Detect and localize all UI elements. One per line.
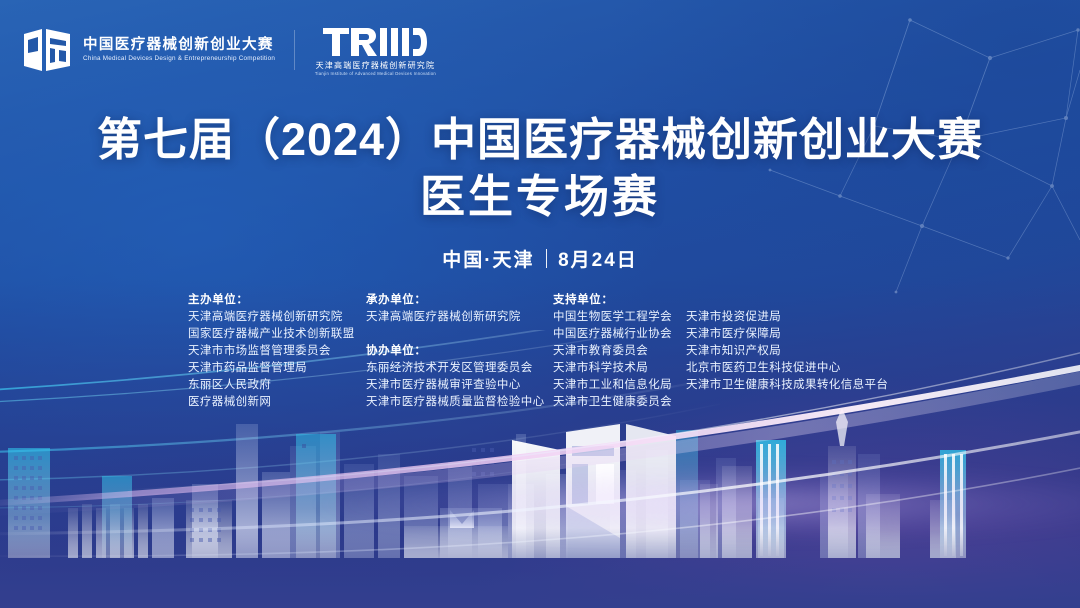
trmd-wordmark-icon [323, 24, 427, 60]
supporter-item: 天津市科学技术局 [553, 360, 686, 377]
header-logos: 中国医疗器械创新创业大赛 China Medical Devices Desig… [22, 24, 436, 76]
supporter-item: 中国医疗器械行业协会 [553, 326, 686, 343]
host-item: 东丽区人民政府 [188, 377, 366, 394]
coorganizer-item: 东丽经济技术开发区管理委员会 [366, 360, 553, 377]
organizer-column-supporters-2: 天津市投资促进局 天津市医疗保障局 天津市知识产权局 北京市医药卫生科技促进中心… [686, 292, 896, 394]
organizer-column-undertaker: 承办单位： 天津高端医疗器械创新研究院 协办单位： 东丽经济技术开发区管理委员会… [366, 292, 553, 411]
coorganizer-label: 协办单位： [366, 343, 553, 360]
logo-secondary-cn: 天津高端医疗器械创新研究院 [316, 62, 436, 70]
host-item: 医疗器械创新网 [188, 394, 366, 411]
page-title-line1: 第七届（2024）中国医疗器械创新创业大赛 [0, 113, 1080, 166]
coorganizer-item: 天津市医疗器械质量监督检验中心 [366, 394, 553, 411]
logo-secondary[interactable]: 天津高端医疗器械创新研究院 Tianjin Institute of Advan… [315, 24, 436, 76]
undertaker-label: 承办单位： [366, 292, 553, 309]
host-label: 主办单位： [188, 292, 366, 309]
logo-secondary-en: Tianjin Institute of Advanced Medical De… [315, 72, 436, 76]
organizer-block: 主办单位： 天津高端医疗器械创新研究院 国家医疗器械产业技术创新联盟 天津市市场… [188, 292, 896, 411]
host-item: 天津市药品监督管理局 [188, 360, 366, 377]
open-door-logo-icon [22, 26, 72, 74]
supporter-item: 天津市卫生健康委员会 [553, 394, 686, 411]
organizer-column-supporters-1: 支持单位： 中国生物医学工程学会 中国医疗器械行业协会 天津市教育委员会 天津市… [553, 292, 686, 411]
supporter-item: 天津市工业和信息化局 [553, 377, 686, 394]
logo-primary-cn: 中国医疗器械创新创业大赛 [83, 38, 274, 53]
logo-divider [294, 30, 295, 70]
supporter-item: 天津市知识产权局 [686, 343, 896, 360]
organizer-column-host: 主办单位： 天津高端医疗器械创新研究院 国家医疗器械产业技术创新联盟 天津市市场… [188, 292, 366, 411]
city-skyline-silhouette [0, 388, 1080, 608]
host-item: 天津市市场监督管理委员会 [188, 343, 366, 360]
separator-bar [546, 249, 548, 268]
page-title-line2: 医生专场赛 [0, 168, 1080, 227]
logo-primary[interactable]: 中国医疗器械创新创业大赛 China Medical Devices Desig… [22, 26, 274, 74]
supporter-item: 北京市医药卫生科技促进中心 [686, 360, 896, 377]
title-block: 第七届（2024）中国医疗器械创新创业大赛 医生专场赛 中国·天津 8月24日 [0, 113, 1080, 272]
host-item: 国家医疗器械产业技术创新联盟 [188, 326, 366, 343]
logo-primary-text: 中国医疗器械创新创业大赛 China Medical Devices Desig… [83, 38, 274, 61]
column-spacer [366, 326, 553, 343]
coorganizer-item: 天津市医疗器械审评查验中心 [366, 377, 553, 394]
door-monument-shape [512, 424, 676, 558]
ground-glow-decoration [120, 448, 1080, 538]
poster-canvas: 中国医疗器械创新创业大赛 China Medical Devices Desig… [0, 0, 1080, 608]
supporter-item: 天津市教育委员会 [553, 343, 686, 360]
undertaker-item: 天津高端医疗器械创新研究院 [366, 309, 553, 326]
logo-primary-en: China Medical Devices Design & Entrepren… [83, 56, 278, 62]
event-location-date: 中国·天津 8月24日 [0, 245, 1080, 272]
host-item: 天津高端医疗器械创新研究院 [188, 309, 366, 326]
event-date: 8月24日 [558, 245, 638, 272]
supporter-item: 天津市医疗保障局 [686, 326, 896, 343]
event-location: 中国·天津 [442, 245, 534, 272]
supporter-item: 中国生物医学工程学会 [553, 309, 686, 326]
supporter-item: 天津市卫生健康科技成果转化信息平台 [686, 377, 896, 394]
supporters-label: 支持单位： [553, 292, 686, 309]
supporter-item: 天津市投资促进局 [686, 309, 896, 326]
